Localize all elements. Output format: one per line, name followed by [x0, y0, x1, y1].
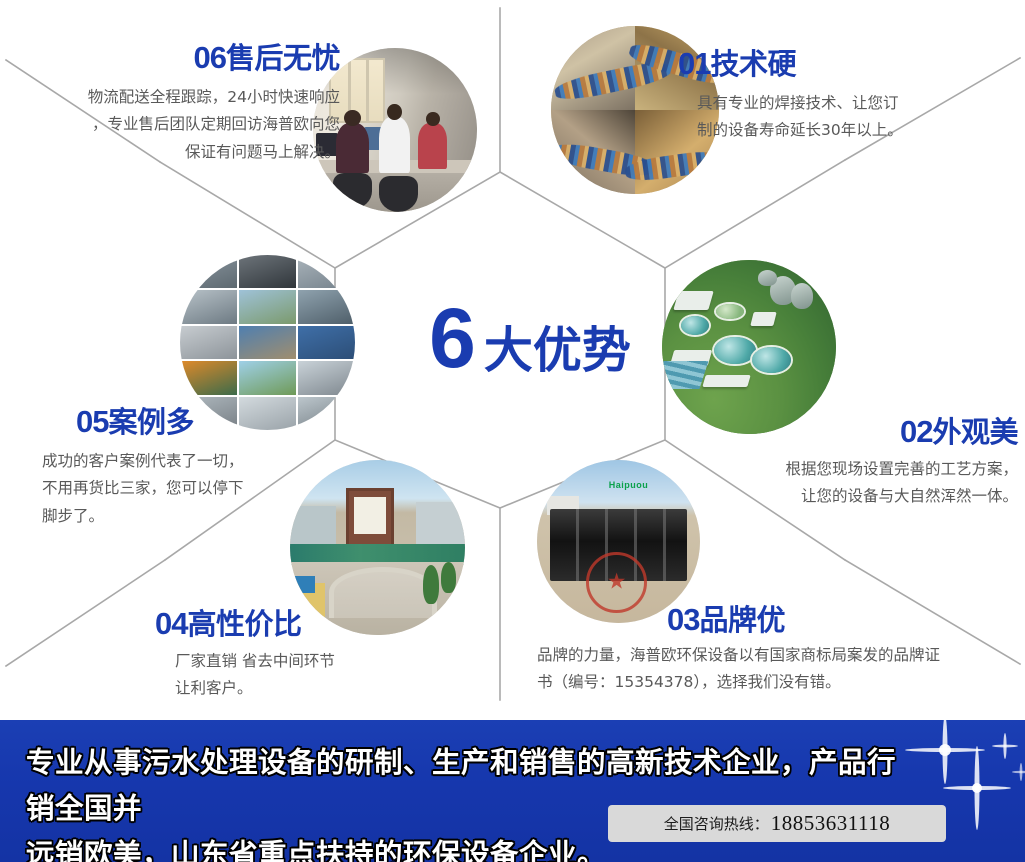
- feature-04-title: 高性价比: [187, 607, 301, 641]
- feature-03: 03品牌优 品牌的力量，海普欧环保设备以有国家商标局案发的品牌证 书（编号：15…: [537, 604, 957, 697]
- aerial-plant-photo: [662, 260, 836, 434]
- hotline-box[interactable]: 全国咨询热线： 18853631118: [608, 805, 946, 842]
- feature-06-number: 06: [194, 40, 226, 75]
- center-title-label: 大优势: [484, 326, 631, 375]
- feature-03-number: 03: [667, 602, 699, 637]
- advantages-infographic: 6 大优势 06售后无忧 物流配送全程跟踪，24小时快速响应 ，专业售后团队定期…: [0, 0, 1025, 862]
- feature-01-title: 技术硬: [710, 47, 796, 81]
- feature-03-body: 品牌的力量，海普欧环保设备以有国家商标局案发的品牌证 书（编号：15354378…: [537, 642, 957, 697]
- center-title-number: 6: [429, 296, 474, 380]
- feature-01: 01技术硬 具有专业的焊接技术、让您订 制的设备寿命延长30年以上。: [678, 48, 1008, 145]
- feature-04-body: 厂家直销 省去中间环节 让利客户。: [175, 648, 485, 703]
- feature-06: 06售后无忧 物流配送全程跟踪，24小时快速响应 ，专业售后团队定期回访海普欧向…: [10, 42, 340, 166]
- banner-text: 专业从事污水处理设备的研制、生产和销售的高新技术企业，产品行销全国并 远销欧美，…: [26, 740, 906, 862]
- center-title: 6 大优势: [400, 296, 660, 382]
- feature-03-heading: 03品牌优: [667, 604, 957, 637]
- tank-brand-logo: Haipuou: [609, 480, 668, 496]
- feature-03-title: 品牌优: [699, 603, 785, 637]
- feature-05-body: 成功的客户案例代表了一切， 不用再货比三家，您可以停下 脚步了。: [42, 448, 372, 531]
- feature-04: 04高性价比 厂家直销 省去中间环节 让利客户。: [155, 608, 485, 703]
- feature-06-body: 物流配送全程跟踪，24小时快速响应 ，专业售后团队定期回访海普欧向您 保证有问题…: [10, 84, 340, 167]
- feature-02-number: 02: [900, 414, 932, 449]
- feature-02-heading: 02外观美: [688, 416, 1018, 449]
- feature-05-heading: 05案例多: [76, 406, 372, 439]
- feature-01-number: 01: [678, 46, 710, 81]
- feature-05-title: 案例多: [108, 405, 194, 439]
- feature-04-heading: 04高性价比: [155, 608, 485, 641]
- feature-01-body: 具有专业的焊接技术、让您订 制的设备寿命延长30年以上。: [697, 90, 1008, 145]
- feature-05: 05案例多 成功的客户案例代表了一切， 不用再货比三家，您可以停下 脚步了。: [42, 406, 372, 530]
- black-tank-photo: Haipuou: [537, 460, 700, 623]
- feature-02-title: 外观美: [932, 415, 1018, 449]
- feature-01-heading: 01技术硬: [678, 48, 1008, 81]
- hotline-label: 全国咨询热线：: [664, 813, 769, 834]
- feature-02-body: 根据您现场设置完善的工艺方案， 让您的设备与大自然浑然一体。: [688, 456, 1018, 511]
- feature-02: 02外观美 根据您现场设置完善的工艺方案， 让您的设备与大自然浑然一体。: [688, 416, 1018, 511]
- hotline-number: 18853631118: [771, 811, 890, 836]
- feature-06-title: 售后无忧: [226, 41, 340, 75]
- feature-04-number: 04: [155, 606, 187, 641]
- feature-06-heading: 06售后无忧: [10, 42, 340, 75]
- case-collage-photo: [180, 255, 355, 430]
- feature-05-number: 05: [76, 404, 108, 439]
